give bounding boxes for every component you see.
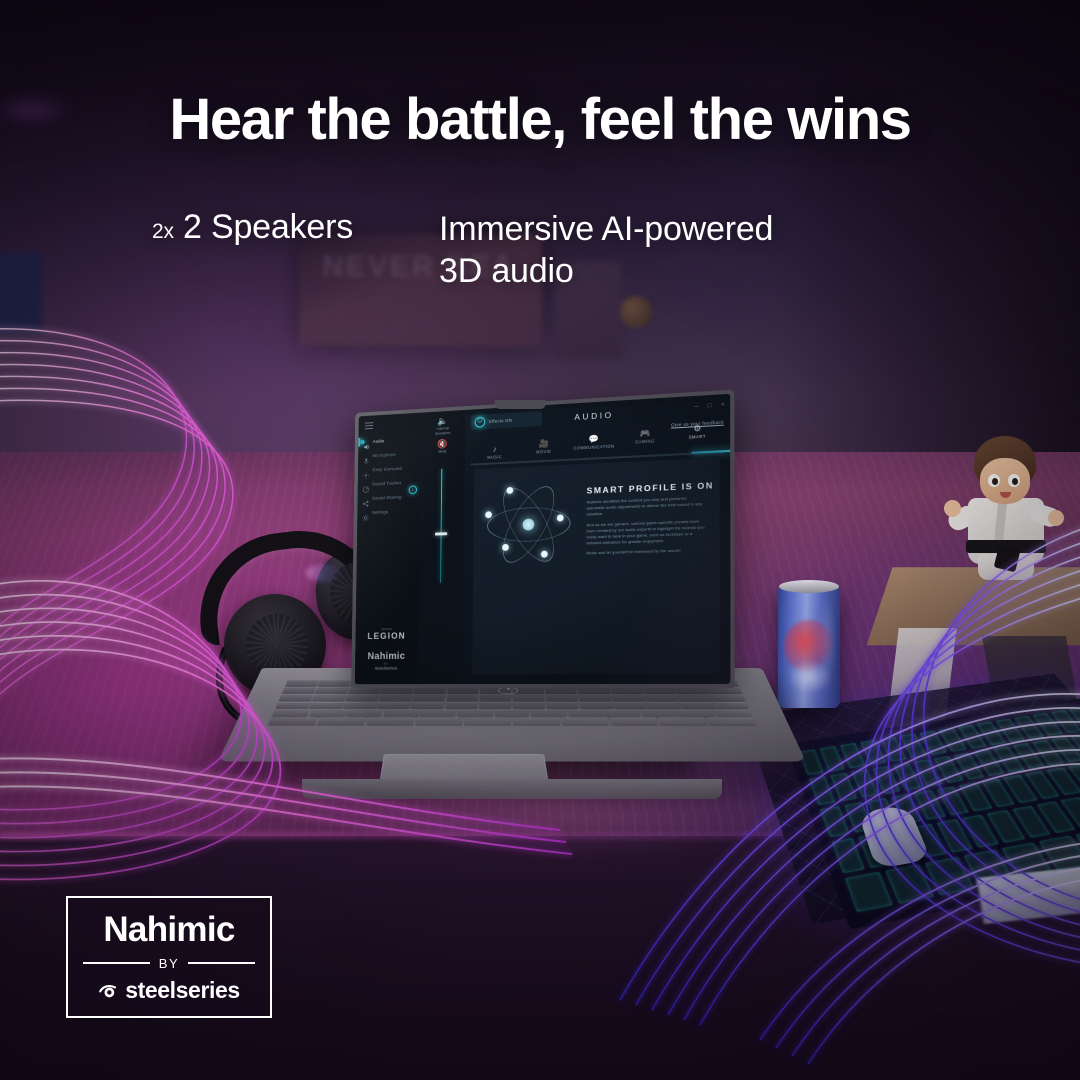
feature-speakers-label: 2 Speakers [183, 208, 353, 246]
nahimic-wordmark: Nahimic [103, 911, 234, 949]
brand-by-divider-row: BY [83, 956, 255, 971]
steelseries-wordmark: steelseries [125, 977, 240, 1004]
feature-row: 2x 2 Speakers Immersive AI-powered3D aud… [152, 208, 952, 292]
nahimic-brand-logo-box: Nahimic BY steelseries [66, 896, 272, 1018]
divider-right [188, 962, 255, 964]
steelseries-row: steelseries [98, 977, 240, 1004]
feature-speakers: 2x 2 Speakers [152, 208, 353, 292]
brand-by-label: BY [159, 956, 180, 971]
steelseries-eye-icon [98, 980, 119, 1001]
promo-image-canvas: NEVER BEA [0, 0, 1080, 1080]
feature-3d-audio-line-2: 3D audio [439, 250, 773, 292]
feature-speakers-prefix: 2x [152, 220, 174, 243]
divider-left [83, 962, 150, 964]
feature-3d-audio-line-1: Immersive AI-powered [439, 208, 773, 250]
laptop-webcam-notch [495, 400, 546, 409]
feature-3d-audio: Immersive AI-powered3D audio [439, 208, 773, 292]
page-title: Hear the battle, feel the wins [0, 86, 1080, 153]
